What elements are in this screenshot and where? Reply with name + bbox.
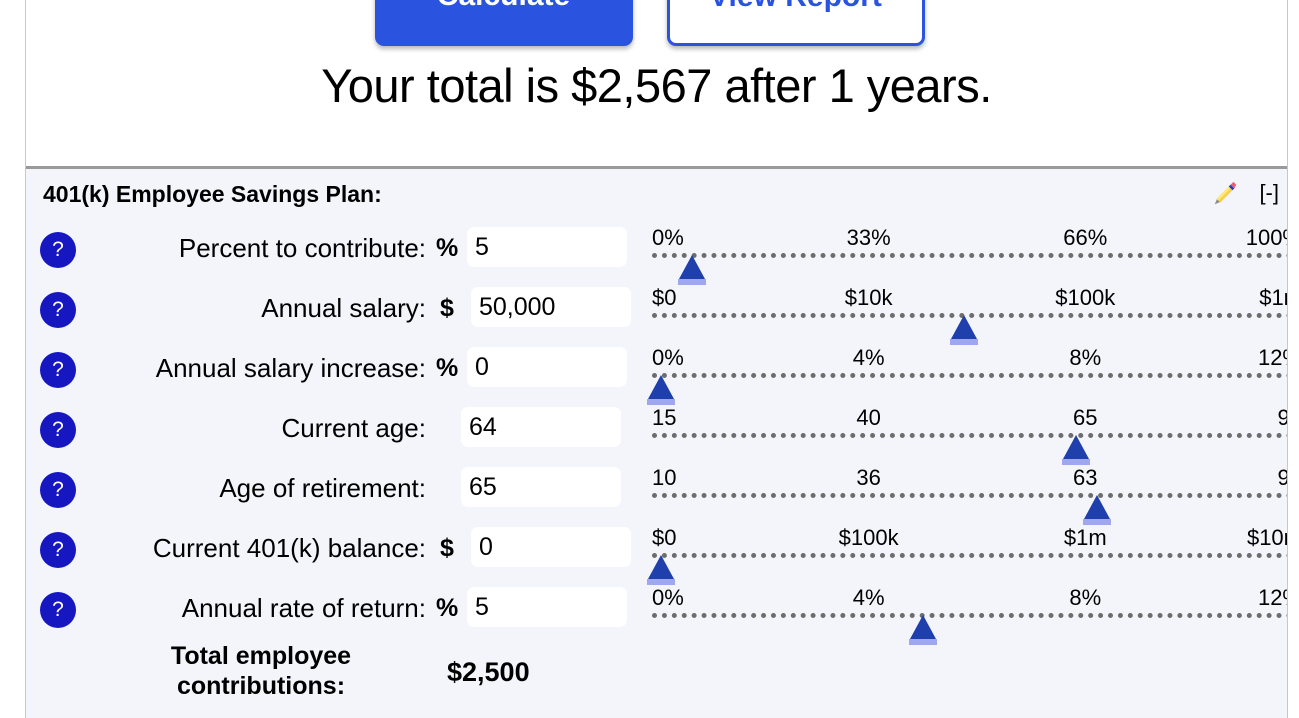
field-row: ?Percent to contribute:%0%33%66%100% xyxy=(26,219,1287,279)
panel-header: 401(k) Employee Savings Plan: [-] xyxy=(26,169,1287,219)
field-input[interactable] xyxy=(471,527,631,567)
field-label: Age of retirement: xyxy=(96,473,426,504)
page-right-border xyxy=(1287,0,1288,718)
total-label-line-2: contributions: xyxy=(177,672,345,700)
collapse-toggle[interactable]: [-] xyxy=(1259,180,1279,206)
total-contributions-row: Total employee contributions: $2,500 xyxy=(26,639,1287,701)
slider-track[interactable] xyxy=(652,373,1287,378)
slider-scale: 10366390 xyxy=(652,465,1287,489)
slider-thumb-triangle xyxy=(1084,495,1110,519)
field-label: Annual rate of return: xyxy=(96,593,426,624)
slider-tick-label: 10 xyxy=(652,465,676,491)
slider-tick-label: $1m xyxy=(1259,285,1287,311)
field-label: Current age: xyxy=(96,413,426,444)
slider-thumb-triangle xyxy=(910,615,936,639)
slider-tick-label: $10m xyxy=(1247,525,1287,551)
view-report-button[interactable]: View Report xyxy=(667,0,925,46)
field-input[interactable] xyxy=(461,407,621,447)
slider-thumb-triangle xyxy=(648,555,674,579)
unit-symbol: $ xyxy=(440,534,454,563)
slider-scale: 15406590 xyxy=(652,405,1287,429)
slider-tick-label: 0% xyxy=(652,225,684,251)
slider-tick-label: 33% xyxy=(847,225,891,251)
slider-tick-label: 90 xyxy=(1278,465,1287,491)
slider-tick-label: $0 xyxy=(652,525,676,551)
slider-track[interactable] xyxy=(652,493,1287,498)
slider[interactable]: 0%4%8%12% xyxy=(652,585,1287,637)
field-input[interactable] xyxy=(467,587,627,627)
calculate-button[interactable]: Calculate xyxy=(375,0,633,46)
slider-tick-label: 36 xyxy=(856,465,880,491)
help-icon[interactable]: ? xyxy=(40,412,76,448)
slider-thumb-triangle xyxy=(951,315,977,339)
slider-thumb-triangle xyxy=(1063,435,1089,459)
page-root: Calculate View Report Your total is $2,5… xyxy=(0,0,1299,718)
field-input[interactable] xyxy=(461,467,621,507)
field-input[interactable] xyxy=(471,287,631,327)
slider-tick-label: 8% xyxy=(1069,345,1101,371)
slider-tick-label: 0% xyxy=(652,345,684,371)
slider-scale: 0%33%66%100% xyxy=(652,225,1287,249)
slider-tick-label: $100k xyxy=(1055,285,1115,311)
slider-thumb-triangle xyxy=(679,255,705,279)
slider-scale: $0$100k$1m$10m xyxy=(652,525,1287,549)
help-icon[interactable]: ? xyxy=(40,532,76,568)
slider-tick-label: 90 xyxy=(1278,405,1287,431)
slider-track[interactable] xyxy=(652,613,1287,618)
field-input[interactable] xyxy=(467,227,627,267)
field-row: ?Age of retirement:10366390 xyxy=(26,459,1287,519)
slider-scale: $0$10k$100k$1m xyxy=(652,285,1287,309)
slider-track[interactable] xyxy=(652,253,1287,258)
pencil-icon[interactable] xyxy=(1210,179,1240,209)
slider-tick-label: 65 xyxy=(1073,405,1097,431)
field-row: ?Annual rate of return:%0%4%8%12% xyxy=(26,579,1287,639)
slider-tick-label: 40 xyxy=(856,405,880,431)
slider-tick-label: 4% xyxy=(853,585,885,611)
field-label: Annual salary increase: xyxy=(96,353,426,384)
result-headline: Your total is $2,567 after 1 years. xyxy=(26,58,1287,113)
slider-scale: 0%4%8%12% xyxy=(652,585,1287,609)
field-row: ?Current age:15406590 xyxy=(26,399,1287,459)
panel-title: 401(k) Employee Savings Plan: xyxy=(43,181,382,208)
slider-track[interactable] xyxy=(652,433,1287,438)
field-label: Percent to contribute: xyxy=(96,233,426,264)
slider-tick-label: 0% xyxy=(652,585,684,611)
slider-tick-label: $100k xyxy=(839,525,899,551)
field-row: ?Current 401(k) balance:$$0$100k$1m$10m xyxy=(26,519,1287,579)
action-button-bar: Calculate View Report xyxy=(0,0,1299,48)
unit-symbol: % xyxy=(436,234,458,263)
help-icon[interactable]: ? xyxy=(40,292,76,328)
field-label: Current 401(k) balance: xyxy=(96,533,426,564)
field-row: ?Annual salary increase:%0%4%8%12% xyxy=(26,339,1287,399)
field-label: Annual salary: xyxy=(96,293,426,324)
help-icon[interactable]: ? xyxy=(40,592,76,628)
unit-symbol: % xyxy=(436,354,458,383)
slider-scale: 0%4%8%12% xyxy=(652,345,1287,369)
slider-tick-label: 63 xyxy=(1073,465,1097,491)
slider-track[interactable] xyxy=(652,553,1287,558)
slider-tick-label: 4% xyxy=(853,345,885,371)
slider-tick-label: $1m xyxy=(1064,525,1107,551)
slider-tick-label: 15 xyxy=(652,405,676,431)
slider[interactable]: $0$10k$100k$1m xyxy=(652,285,1287,337)
help-icon[interactable]: ? xyxy=(40,232,76,268)
total-contributions-value: $2,500 xyxy=(447,657,530,688)
slider[interactable]: 0%33%66%100% xyxy=(652,225,1287,277)
field-row: ?Annual salary:$$0$10k$100k$1m xyxy=(26,279,1287,339)
slider[interactable]: 10366390 xyxy=(652,465,1287,517)
field-rows: ?Percent to contribute:%0%33%66%100%?Ann… xyxy=(26,219,1287,639)
help-icon[interactable]: ? xyxy=(40,472,76,508)
unit-symbol: $ xyxy=(440,294,454,323)
slider-thumb-triangle xyxy=(648,375,674,399)
slider-tick-label: 12% xyxy=(1258,345,1287,371)
total-contributions-label: Total employee contributions: xyxy=(96,641,426,701)
total-label-line-1: Total employee xyxy=(171,642,351,670)
unit-symbol: % xyxy=(436,594,458,623)
savings-plan-panel: 401(k) Employee Savings Plan: [-] ?Perce… xyxy=(26,166,1287,718)
slider[interactable]: $0$100k$1m$10m xyxy=(652,525,1287,577)
slider-tick-label: 100% xyxy=(1246,225,1287,251)
slider-tick-label: 8% xyxy=(1069,585,1101,611)
slider[interactable]: 15406590 xyxy=(652,405,1287,457)
slider-tick-label: 12% xyxy=(1258,585,1287,611)
slider-tick-label: $0 xyxy=(652,285,676,311)
slider[interactable]: 0%4%8%12% xyxy=(652,345,1287,397)
field-input[interactable] xyxy=(467,347,627,387)
slider-tick-label: 66% xyxy=(1063,225,1107,251)
slider-tick-label: $10k xyxy=(845,285,893,311)
help-icon[interactable]: ? xyxy=(40,352,76,388)
